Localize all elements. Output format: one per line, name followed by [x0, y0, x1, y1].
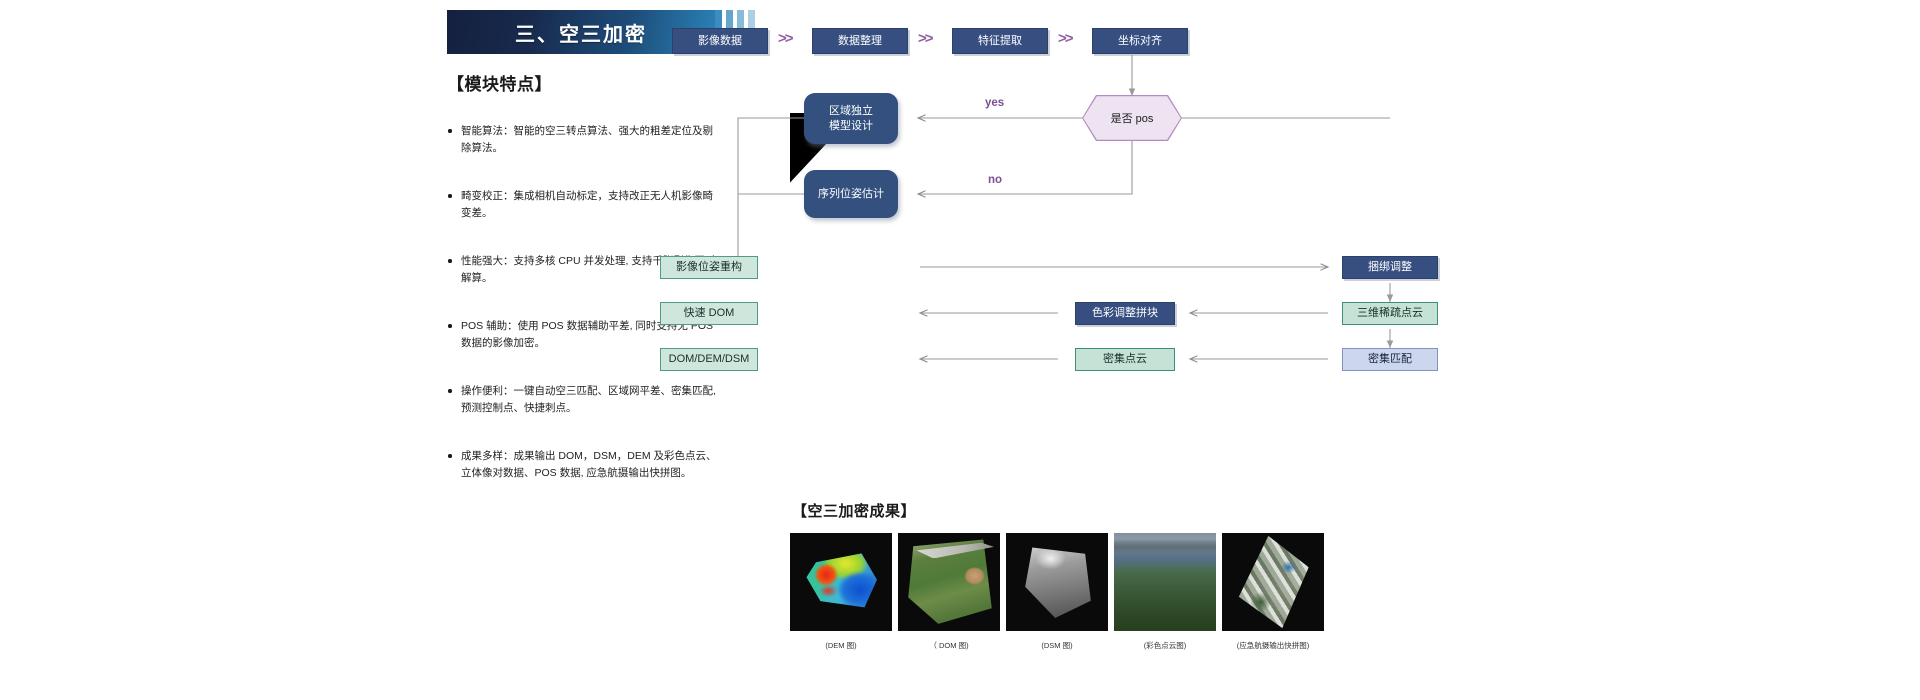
- page-title: 三、空三加密: [515, 18, 647, 47]
- thumbnail-dom-image[interactable]: [898, 533, 1000, 631]
- flow-node-image-pose-rebuild[interactable]: 影像位姿重构: [660, 256, 758, 279]
- list-item: 智能算法：智能的空三转点算法、强大的粗差定位及剔除算法。: [447, 123, 722, 157]
- chevron-right-icon-1: >>: [778, 30, 792, 47]
- flow-node-data-organize[interactable]: 数据整理: [812, 28, 908, 54]
- list-item: 畸变校正：集成相机自动标定，支持改正无人机影像畸变差。: [447, 188, 722, 222]
- module-features-panel: 【模块特点】 智能算法：智能的空三转点算法、强大的粗差定位及剔除算法。 畸变校正…: [447, 70, 722, 513]
- result-item: (彩色点云图): [1114, 533, 1216, 651]
- thumbnail-color-pointcloud-image[interactable]: [1114, 533, 1216, 631]
- results-thumbnail-row: (DEM 图) （ DOM 图) (DSM 图) (彩色点云图) (应急航摄输出…: [790, 533, 1490, 651]
- workflow-diagram: 影像数据 >> 数据整理 >> 特征提取 >> 坐标对齐 是否 pos yes …: [790, 0, 1490, 490]
- flow-node-dense-match[interactable]: 密集匹配: [1342, 348, 1438, 371]
- flow-node-dom-dem-dsm[interactable]: DOM/DEM/DSM: [660, 348, 758, 371]
- thumbnail-dem-image[interactable]: [790, 533, 892, 631]
- flow-node-dense-point-cloud[interactable]: 密集点云: [1075, 348, 1175, 371]
- thumbnail-caption: (DEM 图): [790, 640, 892, 651]
- list-item: 操作便利：一键自动空三匹配、区域网平差、密集匹配, 预测控制点、快捷刺点。: [447, 383, 722, 417]
- module-features-heading: 【模块特点】: [447, 70, 722, 95]
- chevron-right-icon-3: >>: [1058, 30, 1072, 47]
- flow-node-bundle-adjust[interactable]: 捆绑调整: [1342, 256, 1438, 279]
- result-item: （ DOM 图): [898, 533, 1000, 651]
- result-item: (应急航摄输出快拼图): [1222, 533, 1324, 651]
- thumbnail-caption: (彩色点云图): [1114, 640, 1216, 651]
- thumbnail-dsm-image[interactable]: [1006, 533, 1108, 631]
- flow-node-coord-align[interactable]: 坐标对齐: [1092, 28, 1188, 54]
- flow-node-image-data[interactable]: 影像数据: [672, 28, 768, 54]
- results-panel: 【空三加密成果】 (DEM 图) （ DOM 图) (DSM 图) (彩色点云图…: [790, 500, 1490, 651]
- results-heading: 【空三加密成果】: [792, 500, 1490, 521]
- thumbnail-caption: （ DOM 图): [898, 640, 1000, 651]
- list-item: 成果多样：成果输出 DOM，DSM，DEM 及彩色点云、立体像对数据、POS 数…: [447, 448, 722, 482]
- edge-label-no: no: [988, 174, 1002, 186]
- flow-node-sequence-pose[interactable]: 序列位姿估计: [804, 170, 898, 218]
- flow-node-feature-extract[interactable]: 特征提取: [952, 28, 1048, 54]
- flow-decision-has-pos[interactable]: 是否 pos: [1083, 96, 1181, 140]
- slide-root: 三、空三加密 【模块特点】 智能算法：智能的空三转点算法、强大的粗差定位及剔除算…: [0, 0, 1920, 700]
- thumbnail-emergency-mosaic-image[interactable]: [1222, 533, 1324, 631]
- result-item: (DEM 图): [790, 533, 892, 651]
- flow-node-sparse-point-cloud[interactable]: 三维稀疏点云: [1342, 302, 1438, 325]
- thumbnail-caption: (应急航摄输出快拼图): [1222, 640, 1324, 651]
- chevron-right-icon-2: >>: [918, 30, 932, 47]
- result-item: (DSM 图): [1006, 533, 1108, 651]
- edge-label-yes: yes: [985, 97, 1004, 109]
- flow-node-regional-model[interactable]: 区域独立 模型设计: [804, 93, 898, 144]
- thumbnail-caption: (DSM 图): [1006, 640, 1108, 651]
- flow-node-color-mosaic[interactable]: 色彩调整拼块: [1075, 302, 1175, 325]
- flow-node-fast-dom[interactable]: 快速 DOM: [660, 302, 758, 325]
